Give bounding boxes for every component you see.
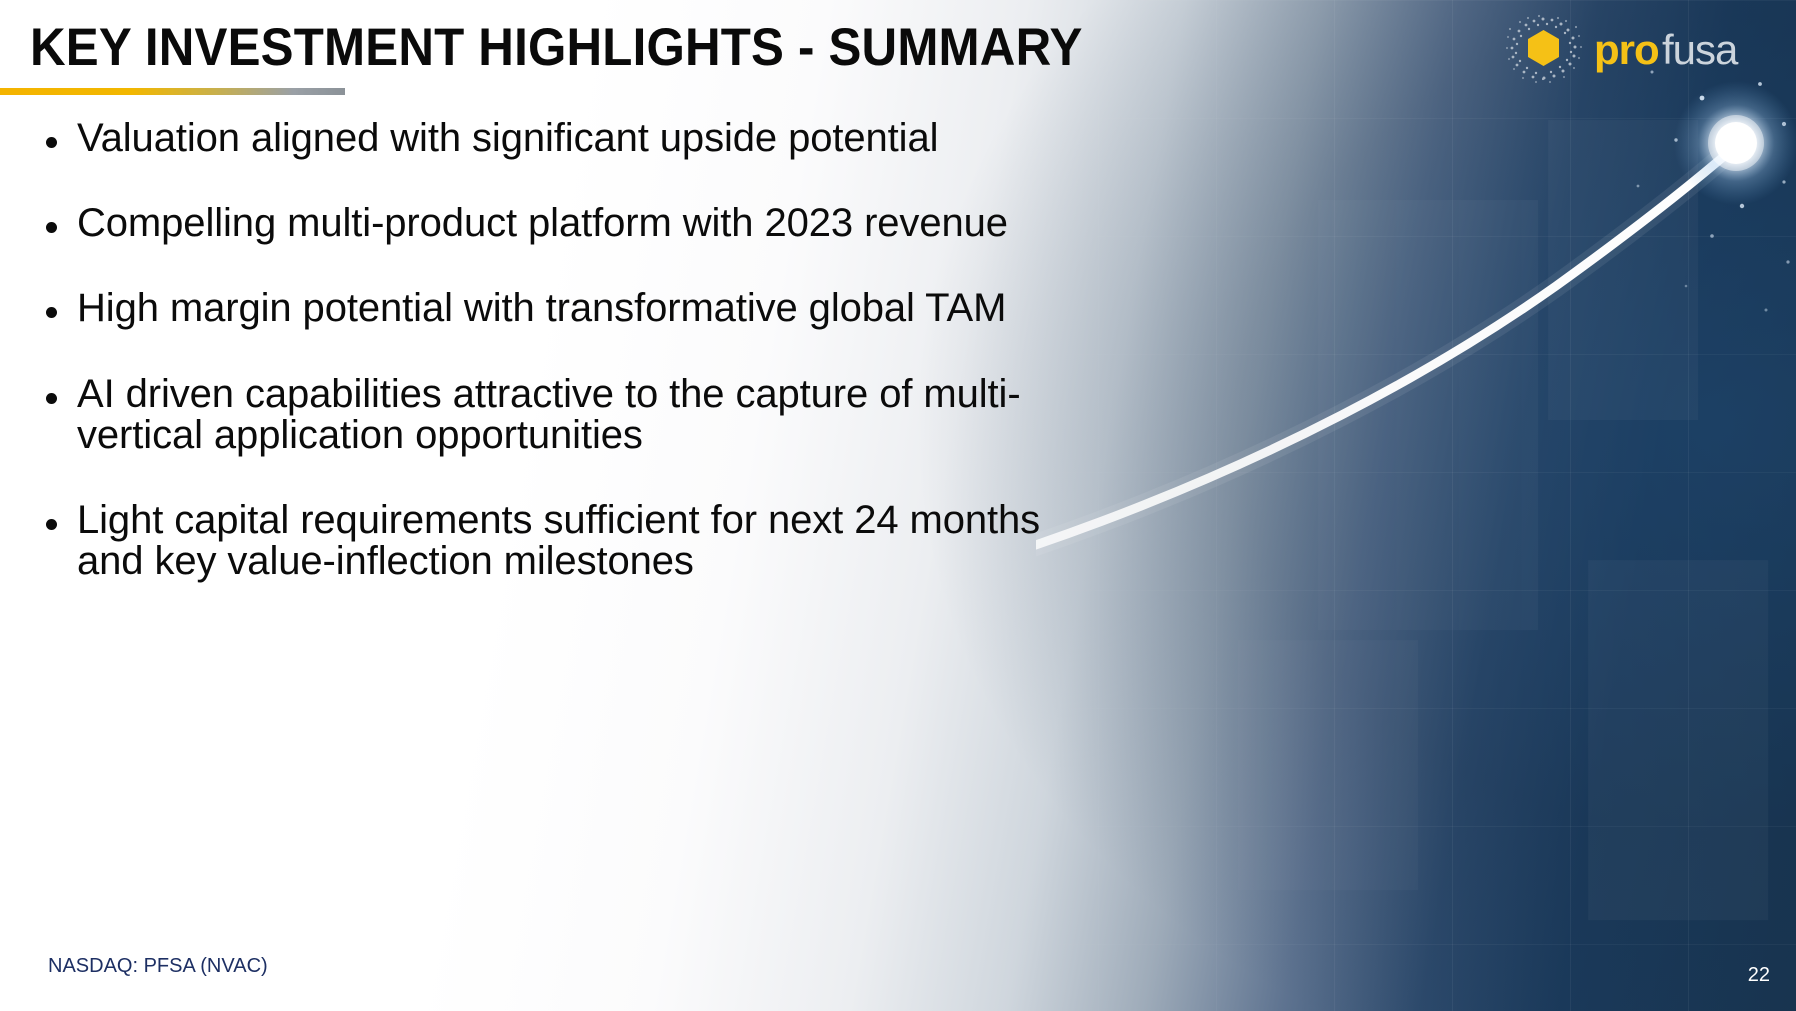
ticker-footer-note: NASDAQ: PFSA (NVAC) bbox=[48, 955, 268, 978]
list-item-label: AI driven capabilities attractive to the… bbox=[77, 374, 1116, 456]
list-item: Valuation aligned with significant upsid… bbox=[46, 118, 1116, 159]
hand-with-growth-curve-illustration bbox=[1036, 0, 1796, 1011]
profusa-logo: pro fusa bbox=[1506, 12, 1776, 86]
bullet-dot-icon bbox=[46, 519, 57, 530]
list-item-label: Compelling multi-product platform with 2… bbox=[77, 203, 1008, 244]
bullet-dot-icon bbox=[46, 307, 57, 318]
svg-text:fusa: fusa bbox=[1662, 26, 1739, 73]
list-item: Compelling multi-product platform with 2… bbox=[46, 203, 1116, 244]
list-item-label: Light capital requirements sufficient fo… bbox=[77, 500, 1116, 582]
list-item-label: High margin potential with transformativ… bbox=[77, 288, 1006, 329]
svg-text:pro: pro bbox=[1594, 26, 1659, 73]
page-title: KEY INVESTMENT HIGHLIGHTS - SUMMARY bbox=[30, 17, 1083, 78]
slide-canvas: KEY INVESTMENT HIGHLIGHTS - SUMMARY Valu… bbox=[0, 0, 1796, 1011]
bullet-dot-icon bbox=[46, 393, 57, 404]
bullet-dot-icon bbox=[46, 222, 57, 233]
bullet-dot-icon bbox=[46, 137, 57, 148]
highlights-list: Valuation aligned with significant upsid… bbox=[46, 118, 1116, 626]
title-underline-rule bbox=[0, 88, 345, 95]
list-item: Light capital requirements sufficient fo… bbox=[46, 500, 1116, 582]
list-item: AI driven capabilities attractive to the… bbox=[46, 374, 1116, 456]
page-number: 22 bbox=[1748, 964, 1770, 987]
list-item-label: Valuation aligned with significant upsid… bbox=[77, 118, 938, 159]
list-item: High margin potential with transformativ… bbox=[46, 288, 1116, 329]
